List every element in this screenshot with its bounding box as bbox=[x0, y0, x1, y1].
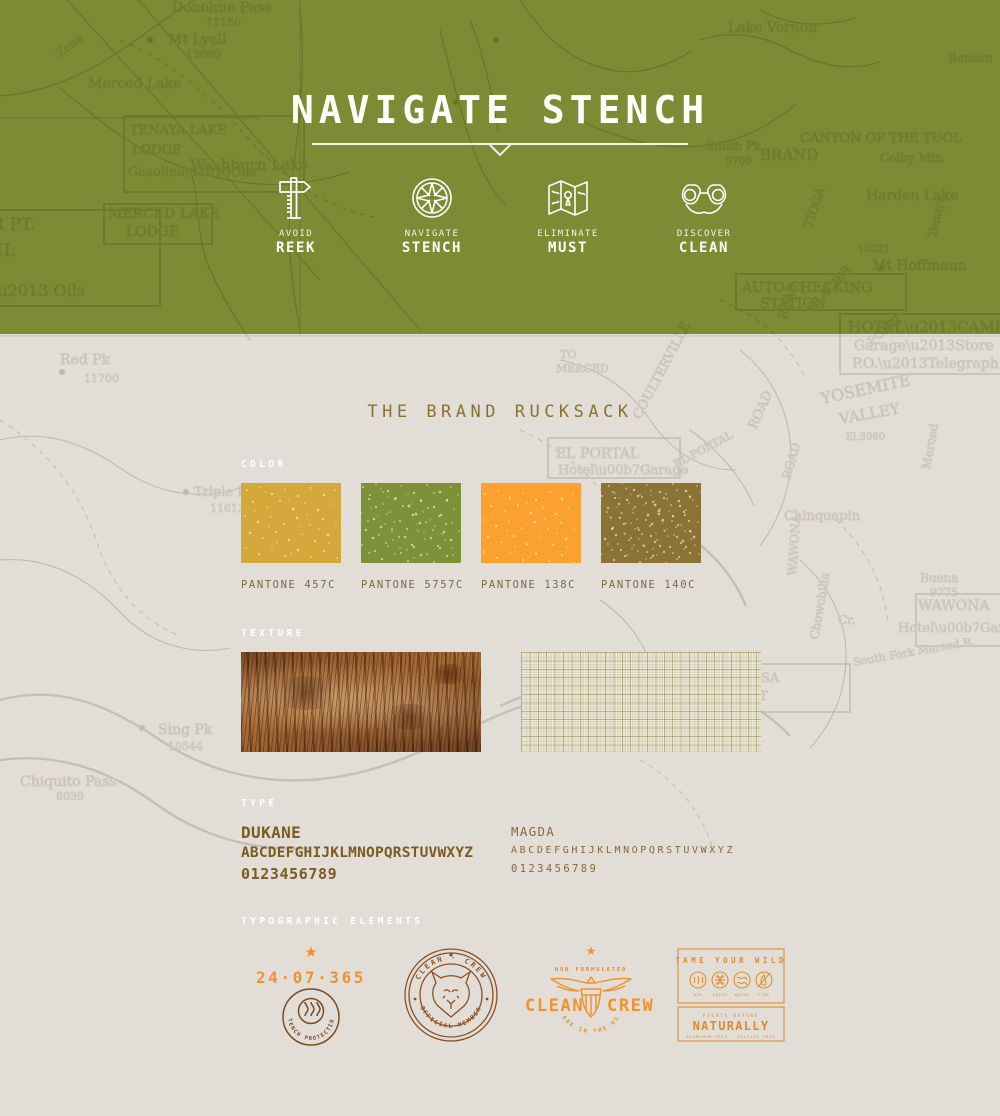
graph-paper-texture[interactable] bbox=[521, 652, 761, 752]
font-numerals: 0123456789 bbox=[241, 864, 511, 885]
element-label: EARTH bbox=[713, 993, 727, 997]
type-section-label: TYPE bbox=[241, 798, 801, 809]
seal-dot bbox=[414, 998, 417, 1001]
font-numerals: 0123456789 bbox=[511, 860, 801, 879]
page-title: NAVIGATE STENCH bbox=[0, 88, 1000, 132]
panel-heading: TAME YOUR WILD bbox=[676, 956, 786, 965]
panel-footnote: ALUMINUM FREE – SULFATE FREE bbox=[686, 1034, 775, 1039]
star-icon: ★ bbox=[304, 945, 317, 960]
color-swatch[interactable] bbox=[601, 483, 701, 563]
texture-section-label: TEXTURE bbox=[241, 628, 801, 639]
color-swatch-label: PANTONE 138C bbox=[481, 579, 581, 591]
typographic-elements-row: ★ 24·07·365 bbox=[241, 940, 801, 1050]
color-swatch-cell: PANTONE 5757C bbox=[361, 483, 461, 591]
chevron-notch-divider-icon bbox=[489, 143, 511, 156]
pillar-label-line1: AVOID bbox=[279, 228, 313, 240]
stench-protection-stamp-icon: STENCH PROTECTION bbox=[280, 986, 342, 1053]
clean-crew-eagle-crest[interactable]: ★ NON FORMULATED bbox=[523, 943, 659, 1047]
crest-top-text: NON FORMULATED bbox=[555, 967, 627, 973]
color-swatch-cell: PANTONE 457C bbox=[241, 483, 341, 591]
texture-row bbox=[241, 652, 801, 752]
color-swatch-label: PANTONE 457C bbox=[241, 579, 341, 591]
texture-section: TEXTURE bbox=[241, 628, 801, 752]
element-cell: TAME YOUR WILD AIR EARTH WATER FIRE FIGH… bbox=[661, 940, 801, 1050]
crest-right-text: CREW bbox=[607, 996, 654, 1016]
element-cell: CLEAN · CREW OFFICIAL MEMBER bbox=[381, 940, 521, 1050]
wood-knot bbox=[381, 704, 437, 730]
panel-headline: NATURALLY bbox=[693, 1019, 770, 1033]
element-label: FIRE bbox=[758, 993, 769, 997]
element-cell: ★ 24·07·365 bbox=[241, 940, 381, 1050]
wood-knot bbox=[427, 664, 471, 684]
pillar-discover-clean: DISCOVER CLEAN bbox=[644, 176, 764, 256]
color-swatch-row: PANTONE 457C PANTONE 5757C bbox=[241, 483, 801, 591]
color-swatch-cell: PANTONE 138C bbox=[481, 483, 581, 591]
type-specimen-row: DUKANE ABCDEFGHIJKLMNOPQRSTUVWXYZ 012345… bbox=[241, 822, 801, 885]
stench-protection-lockup[interactable]: ★ 24·07·365 bbox=[242, 942, 380, 1048]
element-cell: ★ NON FORMULATED bbox=[521, 940, 661, 1050]
lockup-digits: 24·07·365 bbox=[242, 968, 380, 987]
wood-grain-texture[interactable] bbox=[241, 652, 481, 752]
color-section: COLOR bbox=[241, 459, 801, 591]
header-band: NAVIGATE STENCH bbox=[0, 0, 1000, 334]
color-swatch[interactable] bbox=[361, 483, 461, 563]
font-name: MAGDA bbox=[511, 822, 801, 841]
pillar-navigate-stench: NAVIGATE STENCH bbox=[372, 176, 492, 256]
font-alphabet: ABCDEFGHIJKLMNOPQRSTUVWXYZ bbox=[241, 843, 511, 864]
pillar-label-line1: ELIMINATE bbox=[537, 228, 598, 240]
pillar-label-line1: NAVIGATE bbox=[405, 228, 460, 240]
pillar-eliminate-must: ELIMINATE MUST bbox=[508, 176, 628, 256]
brand-pillars: AVOID REEK bbox=[236, 176, 764, 266]
type-specimen-magda: MAGDA ABCDEFGHIJKLMNOPQRSTUVWXYZ 0123456… bbox=[511, 822, 801, 885]
pillar-label-line1: DISCOVER bbox=[677, 228, 732, 240]
pillar-label-line2: REEK bbox=[276, 240, 316, 256]
seal-dot bbox=[486, 998, 489, 1001]
color-swatch-label: PANTONE 5757C bbox=[361, 579, 461, 591]
clean-crew-wolf-seal[interactable]: CLEAN · CREW OFFICIAL MEMBER bbox=[403, 947, 499, 1043]
color-swatch-label: PANTONE 140C bbox=[601, 579, 701, 591]
section-title: THE BRAND RUCKSACK bbox=[0, 402, 1000, 422]
title-divider bbox=[312, 143, 688, 159]
pillar-label-line2: CLEAN bbox=[679, 240, 729, 256]
tame-your-wild-panel[interactable]: TAME YOUR WILD AIR EARTH WATER FIRE FIGH… bbox=[676, 947, 786, 1043]
color-section-label: COLOR bbox=[241, 459, 801, 470]
pillar-label-line2: MUST bbox=[548, 240, 588, 256]
color-swatch[interactable] bbox=[241, 483, 341, 563]
folded-map-icon bbox=[546, 176, 590, 220]
color-swatch-cell: PANTONE 140C bbox=[601, 483, 701, 591]
wood-knot bbox=[271, 676, 341, 710]
element-label: WATER bbox=[735, 993, 749, 997]
star-icon: ★ bbox=[586, 944, 597, 958]
font-alphabet: ABCDEFGHIJKLMNOPQRSTUVWXYZ bbox=[511, 841, 801, 860]
type-specimen-dukane: DUKANE ABCDEFGHIJKLMNOPQRSTUVWXYZ 012345… bbox=[241, 822, 511, 885]
font-name: DUKANE bbox=[241, 822, 511, 843]
pillar-avoid-reek: AVOID REEK bbox=[236, 176, 356, 256]
brand-style-guide-page: Donohue Pass 11150 Mt Lyell 13090 Merced… bbox=[0, 0, 1000, 1116]
element-label: AIR bbox=[694, 993, 703, 997]
type-section: TYPE DUKANE ABCDEFGHIJKLMNOPQRSTUVWXYZ 0… bbox=[241, 798, 801, 885]
binoculars-icon bbox=[680, 176, 728, 220]
compass-icon bbox=[411, 176, 453, 220]
typographic-elements-section: TYPOGRAPHIC ELEMENTS ★ 24·07·365 bbox=[241, 916, 801, 1050]
typographic-elements-label: TYPOGRAPHIC ELEMENTS bbox=[241, 916, 801, 927]
color-swatch[interactable] bbox=[481, 483, 581, 563]
signpost-icon bbox=[276, 176, 316, 220]
crest-left-text: CLEAN bbox=[525, 996, 584, 1016]
pillar-label-line2: STENCH bbox=[402, 240, 462, 256]
